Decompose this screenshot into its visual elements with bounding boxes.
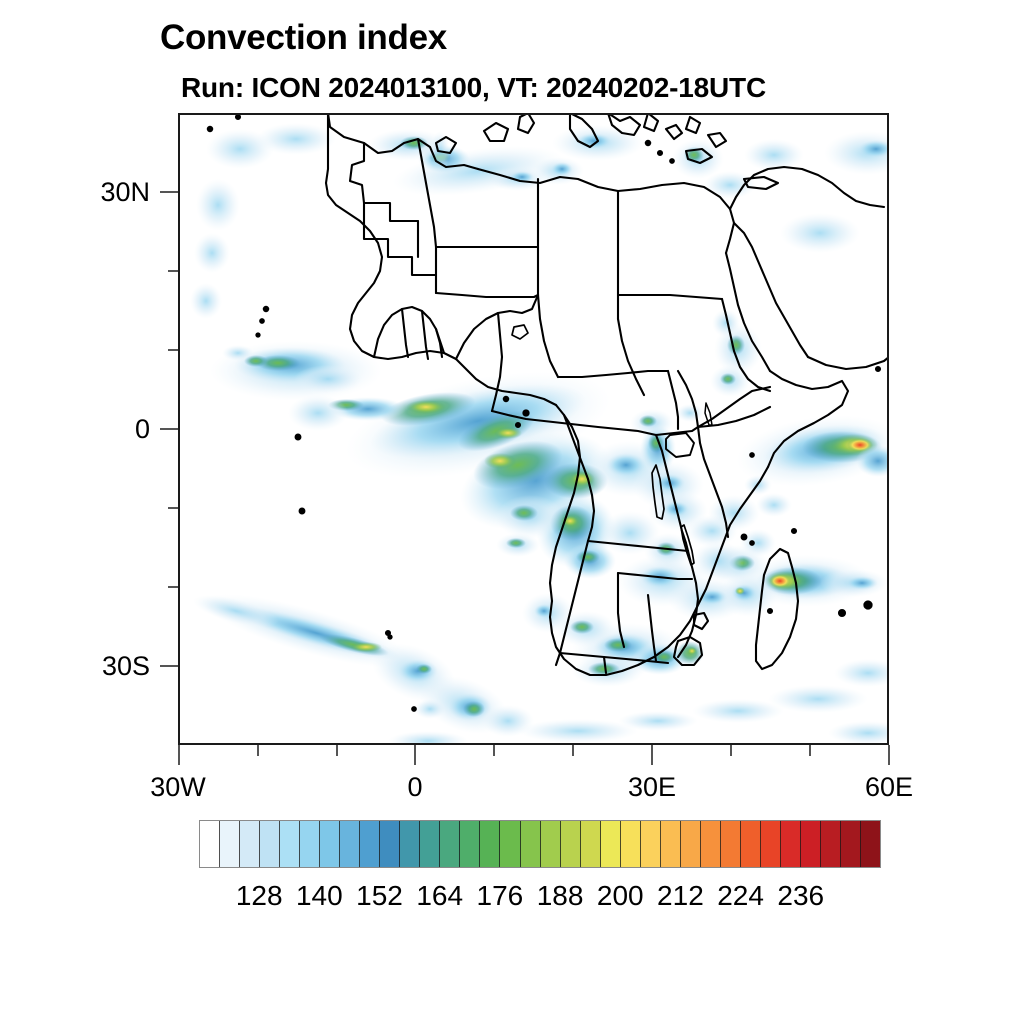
x-tick-label-30e: 30E xyxy=(582,772,722,803)
colorbar-tick-label: 224 xyxy=(717,880,764,912)
x-minor-tick xyxy=(572,745,574,756)
colorbar-cell xyxy=(641,821,661,867)
map-plot-area[interactable] xyxy=(178,113,889,745)
colorbar-cell xyxy=(400,821,420,867)
x-minor-tick xyxy=(809,745,811,756)
colorbar-cell xyxy=(581,821,601,867)
colorbar-cell xyxy=(681,821,701,867)
map-svg xyxy=(178,113,889,745)
colorbar-cell xyxy=(200,821,220,867)
colorbar-cell xyxy=(280,821,300,867)
x-minor-tick xyxy=(336,745,338,756)
colorbar-cell xyxy=(761,821,781,867)
x-tick-label-0: 0 xyxy=(345,772,485,803)
colorbar-cell xyxy=(460,821,480,867)
page-title: Convection index xyxy=(160,18,447,58)
x-minor-tick xyxy=(493,745,495,756)
x-major-tick xyxy=(414,745,416,765)
colorbar-cell xyxy=(721,821,741,867)
x-major-tick xyxy=(651,745,653,765)
colorbar-cell xyxy=(701,821,721,867)
colorbar-cell xyxy=(440,821,460,867)
y-major-tick xyxy=(160,665,178,667)
y-major-tick xyxy=(160,191,178,193)
colorbar-cell xyxy=(781,821,801,867)
colorbar-cell xyxy=(661,821,681,867)
colorbar-cell xyxy=(601,821,621,867)
colorbar-cell xyxy=(821,821,841,867)
cell-mediterranean xyxy=(190,123,756,319)
colorbar-tick-label: 152 xyxy=(356,880,403,912)
colorbar-tick-label: 140 xyxy=(296,880,343,912)
colorbar-cell xyxy=(741,821,761,867)
y-minor-tick xyxy=(168,349,178,351)
convection-field xyxy=(190,123,889,745)
cell-atlantic-itcz xyxy=(210,341,382,401)
colorbar-tick-label: 236 xyxy=(777,880,824,912)
colorbar-tick-label: 128 xyxy=(236,880,283,912)
colorbar-cell xyxy=(380,821,400,867)
y-tick-label-0: 0 xyxy=(35,414,150,445)
figure-subtitle: Run: ICON 2024013100, VT: 20240202-18UTC xyxy=(181,72,766,104)
x-minor-tick xyxy=(257,745,259,756)
y-minor-tick xyxy=(168,270,178,272)
y-major-tick xyxy=(160,428,178,430)
colorbar-cell xyxy=(340,821,360,867)
colorbar-cell xyxy=(621,821,641,867)
colorbar-cell xyxy=(300,821,320,867)
figure-root: Convection index Run: ICON 2024013100, V… xyxy=(0,0,1024,1024)
colorbar-tick-label: 164 xyxy=(416,880,463,912)
x-major-tick xyxy=(178,745,180,765)
x-tick-label-60e: 60E xyxy=(819,772,959,803)
colorbar-cell xyxy=(521,821,541,867)
colorbar-tick-labels: 128140152164176188200212224236 xyxy=(199,880,881,914)
y-minor-tick xyxy=(168,586,178,588)
x-tick-label-30w: 30W xyxy=(108,772,248,803)
colorbar-cell xyxy=(541,821,561,867)
colorbar-cell xyxy=(260,821,280,867)
colorbar-cell xyxy=(360,821,380,867)
y-tick-label-30n: 30N xyxy=(35,177,150,208)
colorbar-cell xyxy=(561,821,581,867)
y-minor-tick xyxy=(168,507,178,509)
x-major-tick xyxy=(888,745,890,765)
colorbar-tick-label: 212 xyxy=(657,880,704,912)
colorbar-cell xyxy=(801,821,821,867)
colorbar-cell xyxy=(480,821,500,867)
colorbar[interactable] xyxy=(199,820,881,868)
y-tick-label-30s: 30S xyxy=(35,651,150,682)
cell-ethiopia xyxy=(710,365,750,397)
colorbar-cell xyxy=(320,821,340,867)
colorbar-tick-label: 176 xyxy=(477,880,524,912)
colorbar-cell xyxy=(500,821,520,867)
colorbar-cell xyxy=(841,821,861,867)
colorbar-cell xyxy=(861,821,880,867)
colorbar-tick-label: 200 xyxy=(597,880,644,912)
cell-south-atlantic-front xyxy=(190,580,534,745)
x-minor-tick xyxy=(730,745,732,756)
colorbar-cell xyxy=(220,821,240,867)
colorbar-tick-label: 188 xyxy=(537,880,584,912)
colorbar-cell xyxy=(240,821,260,867)
colorbar-cell xyxy=(420,821,440,867)
